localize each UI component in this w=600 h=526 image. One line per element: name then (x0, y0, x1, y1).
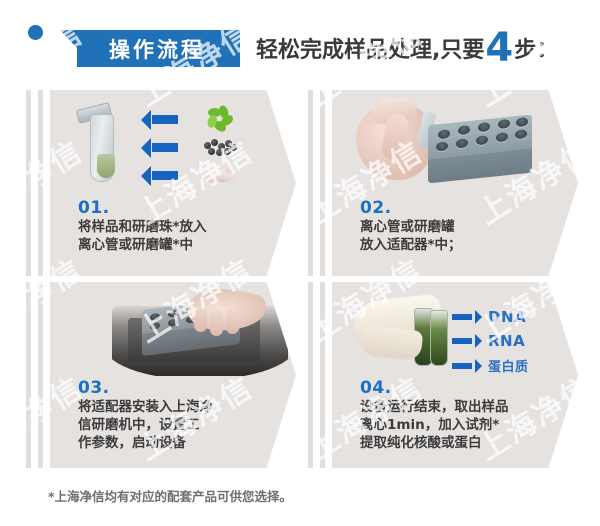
watermark-text: 上海净信 (468, 481, 600, 526)
card-stripes (306, 282, 332, 468)
stripe (308, 90, 313, 276)
arrow-left-icon (152, 115, 178, 124)
subtitle-text-tail: 步： (514, 32, 558, 64)
step-number: 04. (360, 378, 392, 398)
mouse-icon (198, 162, 238, 188)
sample-input-row (144, 108, 274, 130)
card-surface: 01. 将样品和研磨珠*放入 离心管或研磨罐*中 (50, 90, 296, 276)
page-header: 操作流程 轻松完成样品处理,只要 4 步： (0, 0, 600, 86)
centrifuge-tube-icon (86, 106, 116, 184)
stripe (26, 90, 31, 276)
stripe (308, 282, 313, 468)
output-label: 蛋白质 (488, 356, 529, 375)
arrow-right-icon (452, 363, 472, 369)
sample-input-row (144, 136, 274, 158)
section-banner: 操作流程 (60, 30, 240, 67)
output-row-rna: RNA (452, 332, 525, 350)
step-description: 将样品和研磨珠*放入 离心管或研磨罐*中 (78, 218, 207, 254)
step-number: 03. (78, 378, 110, 398)
stripe (26, 282, 31, 468)
watermark-text: 上海净信 (298, 481, 430, 526)
card-stripes (24, 282, 50, 468)
stripe (38, 282, 43, 468)
output-row-protein: 蛋白质 (452, 356, 529, 375)
card-stripes (306, 90, 332, 276)
card-surface: DNA RNA 蛋白质 04. 设备运行结束，取出样品 离心1min，加入试剂*… (332, 282, 578, 468)
step-description: 将适配器安装入上海净 信研磨机中，设置工 作参数，启动设备 (78, 398, 213, 452)
sample-input-row (144, 164, 274, 186)
plant-leaf-icon (198, 106, 238, 132)
step-number: 01. (78, 198, 110, 218)
steps-grid: 01. 将样品和研磨珠*放入 离心管或研磨罐*中 (0, 86, 600, 476)
card-surface: 03. 将适配器安装入上海净 信研磨机中，设置工 作参数，启动设备 (50, 282, 296, 468)
stripe (320, 90, 325, 276)
adapter-into-grinder-photo (102, 288, 296, 380)
output-label: RNA (488, 332, 525, 350)
card-surface: 02. 离心管或研磨罐 放入适配器*中； (332, 90, 578, 276)
arrow-left-icon (152, 143, 178, 152)
step-description: 设备运行结束，取出样品 离心1min，加入试剂* 提取纯化核酸或蛋白 (360, 398, 509, 452)
step-number: 02. (360, 198, 392, 218)
header-subtitle: 轻松完成样品处理,只要 4 步： (256, 28, 558, 64)
arrow-left-icon (152, 171, 178, 180)
arrow-right-icon (452, 314, 472, 320)
stripe (320, 282, 325, 468)
subtitle-text-lead: 轻松完成样品处理,只要 (256, 32, 484, 64)
banner-label: 操作流程 (95, 34, 205, 64)
arrow-right-icon (452, 338, 472, 344)
footnote: *上海净信均有对应的配套产品可供您选择。 (48, 486, 292, 505)
stripe (38, 90, 43, 276)
subtitle-step-count: 4 (485, 32, 513, 64)
step-description: 离心管或研磨罐 放入适配器*中； (360, 218, 462, 254)
circle-dot-icon (28, 25, 43, 40)
hand-loading-adapter-photo (354, 98, 540, 194)
grinding-beads-icon (198, 134, 238, 160)
output-label: DNA (488, 308, 526, 326)
output-row-dna: DNA (452, 308, 526, 326)
card-stripes (24, 90, 50, 276)
